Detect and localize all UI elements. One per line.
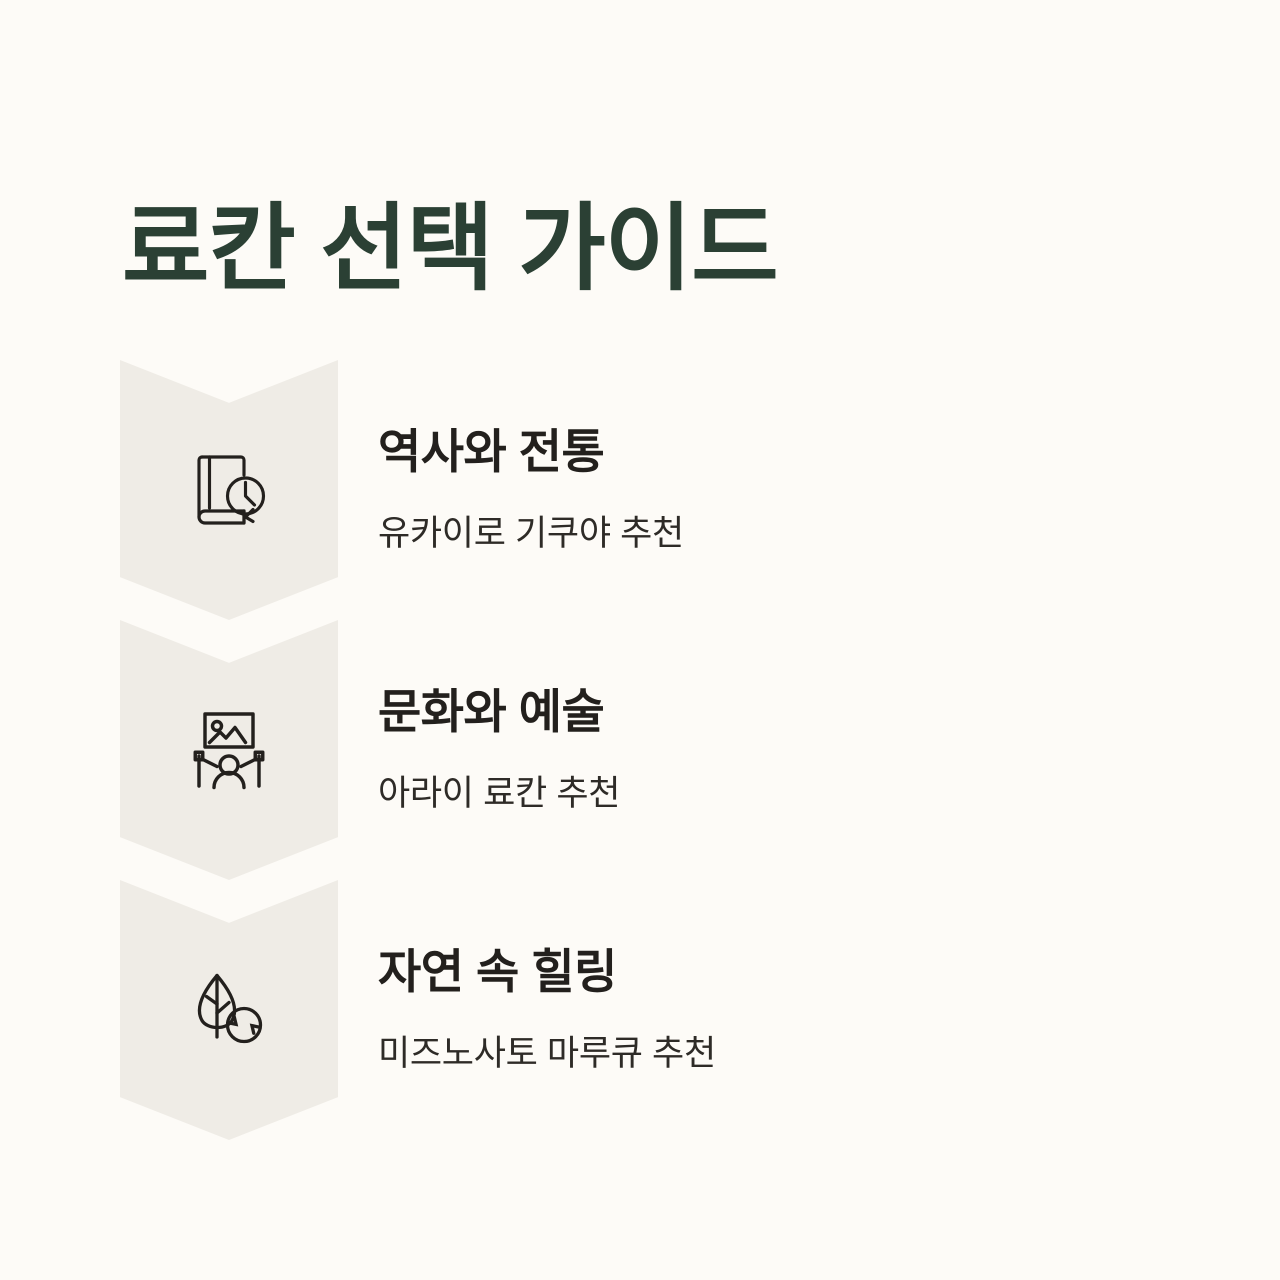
card-subtitle: 미즈노사토 마루큐 추천 xyxy=(378,1033,1198,1075)
guide-card[interactable]: 문화와 예술 아라이 료칸 추천 xyxy=(0,620,1280,880)
card-subtitle: 아라이 료칸 추천 xyxy=(378,773,1198,815)
card-text-block: 문화와 예술 아라이 료칸 추천 xyxy=(378,620,1198,880)
card-heading: 역사와 전통 xyxy=(378,425,1198,479)
card-heading: 자연 속 힐링 xyxy=(378,945,1198,999)
leaf-recycle-icon xyxy=(120,880,338,1140)
guide-card-list: 역사와 전통 유카이로 기쿠야 추천 xyxy=(0,360,1280,1140)
gallery-visitor-icon xyxy=(120,620,338,880)
page-title: 료칸 선택 가이드 xyxy=(122,198,778,301)
card-text-block: 자연 속 힐링 미즈노사토 마루큐 추천 xyxy=(378,880,1198,1140)
card-text-block: 역사와 전통 유카이로 기쿠야 추천 xyxy=(378,360,1198,620)
guide-card[interactable]: 자연 속 힐링 미즈노사토 마루큐 추천 xyxy=(0,880,1280,1140)
book-clock-icon xyxy=(120,360,338,620)
card-heading: 문화와 예술 xyxy=(378,685,1198,739)
infographic-page: 료칸 선택 가이드 역사와 전통 유카이로 기쿠 xyxy=(0,0,1280,1280)
card-subtitle: 유카이로 기쿠야 추천 xyxy=(378,513,1198,555)
guide-card[interactable]: 역사와 전통 유카이로 기쿠야 추천 xyxy=(0,360,1280,620)
